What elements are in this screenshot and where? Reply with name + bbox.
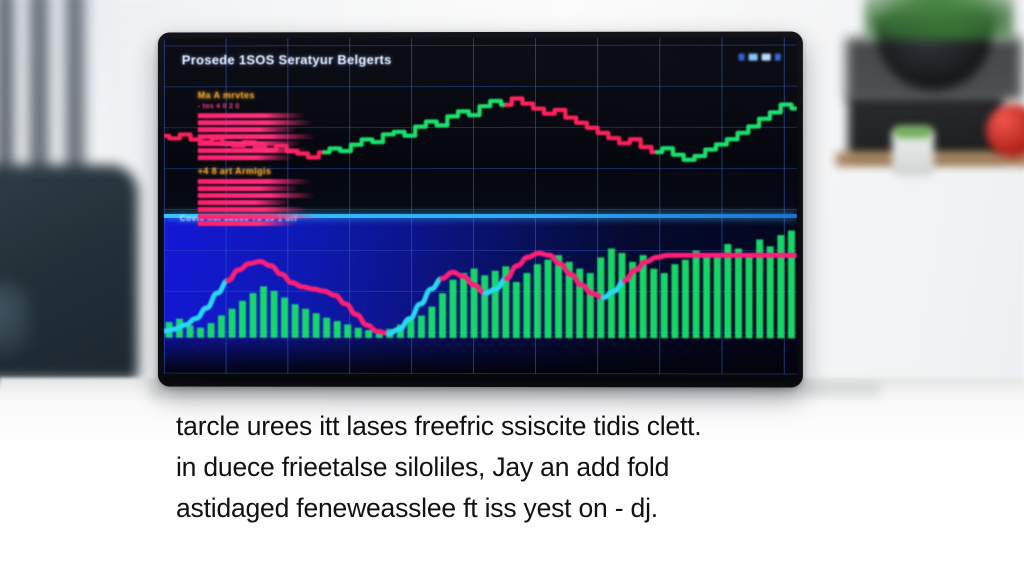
- status-light-4: [775, 54, 781, 61]
- legend-title: Ma A mrvtes: [198, 90, 320, 100]
- white-planter-foliage: [894, 126, 932, 138]
- status-light-1: [739, 54, 745, 61]
- legend-row: [198, 179, 312, 184]
- status-light-3: [762, 54, 771, 61]
- legend-rows: [198, 113, 320, 160]
- legend-row: [198, 134, 316, 139]
- legend-row: [198, 214, 318, 219]
- caption-line-1: tarcle urees itt lases freefric ssiscite…: [176, 406, 876, 447]
- status-lights[interactable]: [739, 54, 781, 61]
- chart-title: Prosede 1SOS Seratyur Belgerts: [182, 52, 392, 67]
- plant-leaves-icon: [864, 0, 1014, 40]
- status-light-2: [749, 54, 758, 61]
- legend-row: [198, 200, 292, 205]
- monitor-screen[interactable]: Prosede 1SOS Seratyur Belgerts Ma A mrvt…: [164, 38, 797, 375]
- legend-title-secondary: +4 8 art Armlgis: [198, 166, 320, 176]
- legend-panel[interactable]: Ma A mrvtes - tos 4 0 2 0 +4 8 art Armlg…: [198, 90, 320, 226]
- caption-line-2: in duece frieetalse siloliles, Jay an ad…: [176, 447, 876, 488]
- legend-row: [198, 141, 302, 146]
- window-blinds: [0, 0, 110, 178]
- legend-row: [198, 207, 308, 212]
- legend-row: [198, 186, 300, 191]
- legend-row: [198, 155, 294, 160]
- legend-row: [198, 127, 298, 132]
- monitor: Prosede 1SOS Seratyur Belgerts Ma A mrvt…: [158, 31, 803, 387]
- chair-armrest: [0, 282, 30, 354]
- legend-row: [198, 120, 314, 125]
- legend-row: [198, 113, 306, 118]
- legend-row: [198, 221, 298, 226]
- legend-row: [198, 148, 310, 153]
- volume-bars: [166, 230, 795, 338]
- oscillator-line: [164, 253, 797, 334]
- caption-line-3: astidaged feneweasslee ft iss yest on - …: [176, 488, 876, 529]
- photo-scene: Prosede 1SOS Seratyur Belgerts Ma A mrvt…: [0, 0, 1024, 585]
- legend-subtitle: - tos 4 0 2 0: [198, 103, 320, 110]
- legend-row: [198, 193, 316, 198]
- legend-rows-secondary: [198, 179, 320, 226]
- caption-block: tarcle urees itt lases freefric ssiscite…: [176, 406, 876, 529]
